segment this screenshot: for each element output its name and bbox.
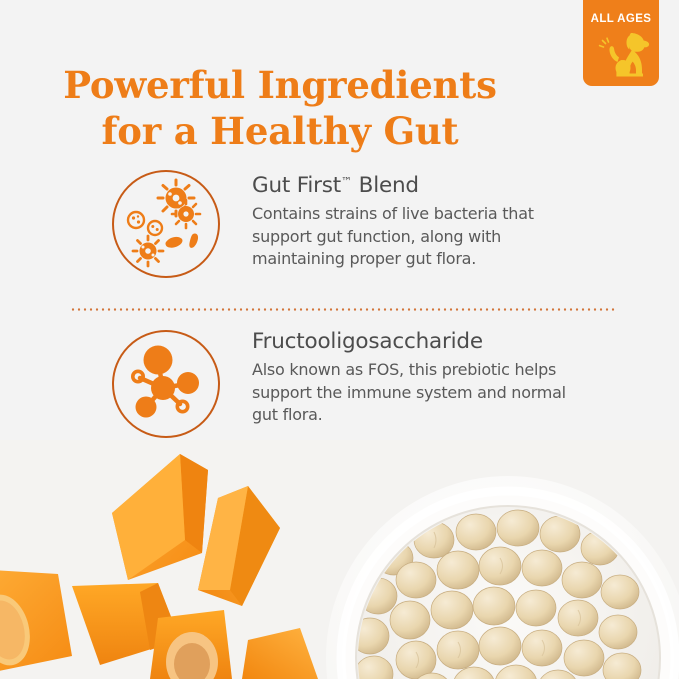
feature-title-suffix: Blend: [359, 173, 419, 198]
feature-title: Gut First™ Blend: [252, 168, 582, 200]
bacteria-petri-dish-icon: [110, 168, 222, 280]
page-title-line-1: Powerful Ingredients: [0, 62, 560, 108]
feature-text-gut-first-blend: Gut First™ Blend Contains strains of liv…: [252, 168, 582, 271]
feature-title-main: Fructooligosaccharide: [252, 329, 483, 354]
all-ages-badge-label: ALL AGES: [583, 13, 659, 25]
feature-title-main: Gut First: [252, 173, 341, 198]
feature-text-fructooligosaccharide: Fructooligosaccharide Also known as FOS,…: [252, 328, 582, 427]
ingredient-infographic: ALL AGES: [0, 0, 679, 679]
section-divider: [70, 308, 615, 311]
chickpea-bowl-photo: [322, 440, 679, 679]
feature-title: Fructooligosaccharide: [252, 328, 582, 356]
ingredient-photo-band: [0, 440, 679, 679]
page-title-line-2: for a Healthy Gut: [0, 108, 560, 154]
molecule-icon: [110, 328, 222, 440]
feature-body: Contains strains of live bacteria that s…: [252, 203, 582, 271]
trademark-symbol: ™: [341, 175, 352, 188]
feature-body: Also known as FOS, this prebiotic helps …: [252, 359, 582, 427]
all-ages-badge: ALL AGES: [583, 0, 659, 86]
sweet-potato-cubes-photo: [0, 440, 330, 679]
page-title: Powerful Ingredients for a Healthy Gut: [0, 62, 560, 154]
sitting-dog-icon: [591, 30, 651, 80]
